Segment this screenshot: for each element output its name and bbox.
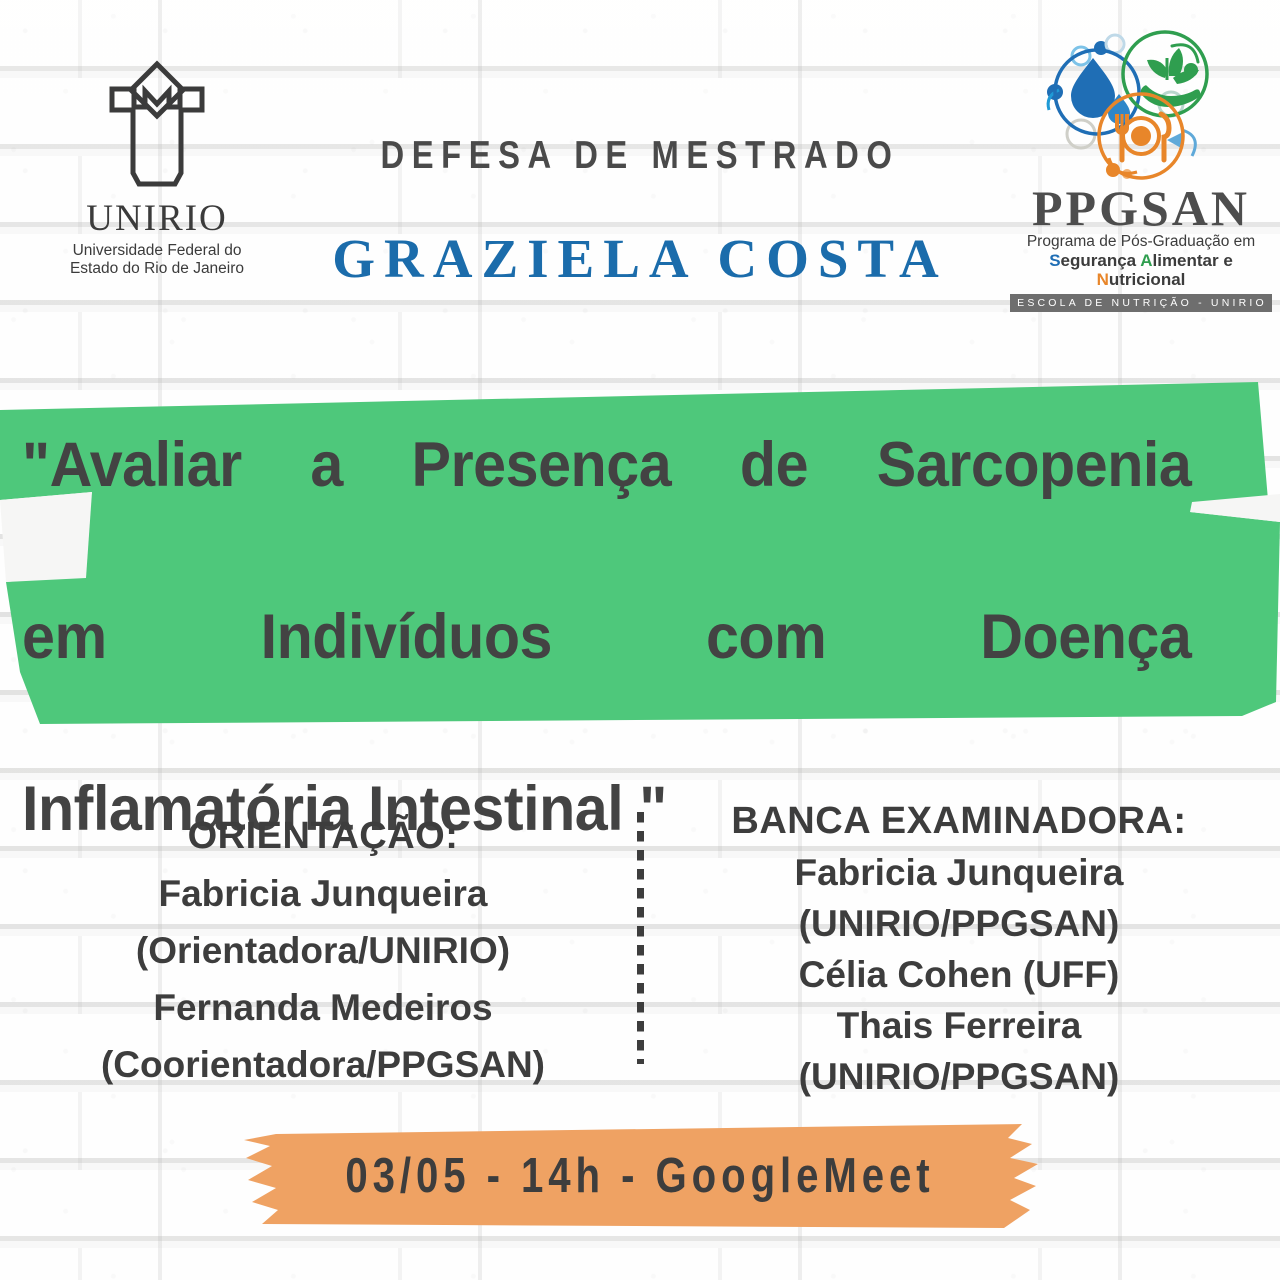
- advising-person: Fernanda Medeiros: [30, 979, 616, 1036]
- advising-person: Fabricia Junqueira: [30, 865, 616, 922]
- advising-person: (Orientadora/UNIRIO): [30, 922, 616, 979]
- student-name-heading: GRAZIELA COSTA: [0, 227, 1280, 290]
- committee-member: (UNIRIO/PPGSAN): [666, 898, 1252, 949]
- thesis-title-banner: "Avaliar a Presença de Sarcopenia em Ind…: [0, 372, 1280, 728]
- advising-heading: ORIENTAÇÃO:: [30, 808, 616, 865]
- committee-member: Thais Ferreira: [666, 1000, 1252, 1051]
- ppgsan-school-bar: ESCOLA DE NUTRIÇÃO - UNIRIO: [1010, 294, 1272, 312]
- dotted-divider: [637, 812, 644, 1064]
- date-time-text: 03/05 - 14h - GoogleMeet: [305, 1148, 974, 1204]
- committee-column: BANCA EXAMINADORA: Fabricia Junqueira (U…: [666, 796, 1252, 1102]
- thesis-title-line2: em Indivíduos com Doença: [22, 594, 1191, 766]
- advising-person: (Coorientadora/PPGSAN): [30, 1036, 616, 1093]
- ppgsan-wordmark: PPGSAN: [1010, 183, 1272, 233]
- poster-canvas: UNIRIO Universidade Federal do Estado do…: [0, 0, 1280, 1280]
- thesis-title-text: "Avaliar a Presença de Sarcopenia em Ind…: [22, 422, 1191, 852]
- event-type-heading: DEFESA DE MESTRADO: [102, 134, 1177, 178]
- committee-member: Célia Cohen (UFF): [666, 949, 1252, 1000]
- advising-column: ORIENTAÇÃO: Fabricia Junqueira (Orientad…: [30, 808, 616, 1093]
- committee-heading: BANCA EXAMINADORA:: [666, 796, 1252, 847]
- date-time-banner: 03/05 - 14h - GoogleMeet: [232, 1118, 1048, 1234]
- thesis-title-line1: "Avaliar a Presença de Sarcopenia: [22, 422, 1191, 594]
- committee-member: Fabricia Junqueira: [666, 847, 1252, 898]
- committee-member: (UNIRIO/PPGSAN): [666, 1051, 1252, 1102]
